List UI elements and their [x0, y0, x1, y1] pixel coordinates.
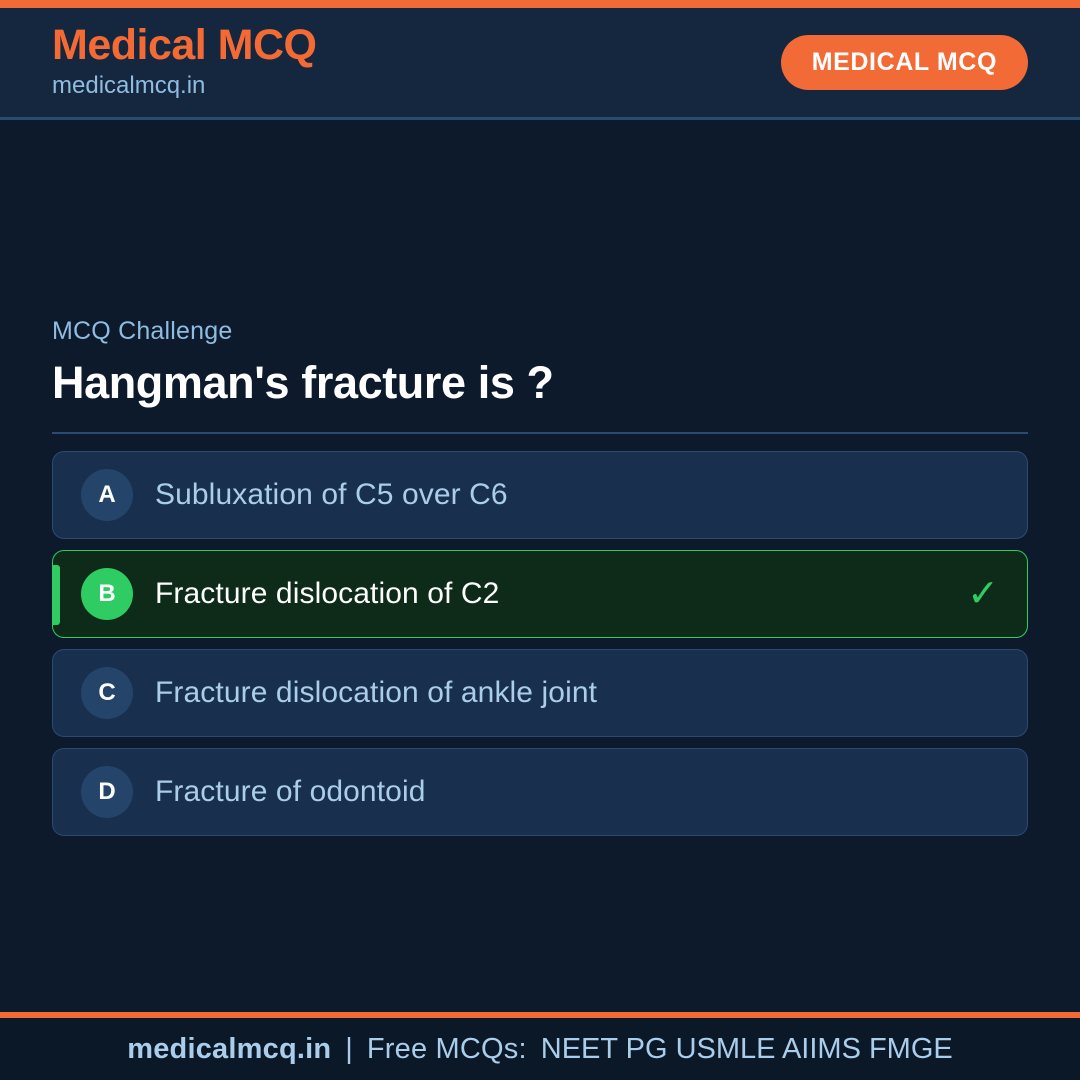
question-divider	[52, 432, 1028, 434]
brand-block: Medical MCQ medicalmcq.in	[52, 23, 317, 101]
footer-label: Free MCQs:	[367, 1033, 527, 1066]
option-a[interactable]: A Subluxation of C5 over C6 ✓	[52, 451, 1028, 539]
option-letter-badge: A	[81, 469, 133, 521]
page-title: Hangman's fracture is ?	[52, 356, 1028, 411]
footer-exams: NEET PG USMLE AIIMS FMGE	[527, 1033, 953, 1066]
option-label: Fracture dislocation of C2	[155, 576, 499, 612]
footer-separator: |	[331, 1033, 367, 1066]
option-letter-badge: C	[81, 667, 133, 719]
page-header: Medical MCQ medicalmcq.in MEDICAL MCQ	[0, 8, 1080, 120]
footer-site[interactable]: medicalmcq.in	[127, 1033, 331, 1066]
option-label: Fracture of odontoid	[155, 774, 426, 810]
brand-subtitle: medicalmcq.in	[52, 70, 317, 101]
options-list: A Subluxation of C5 over C6 ✓ B Fracture…	[52, 451, 1028, 836]
check-icon: ✓	[967, 575, 999, 613]
page-footer: medicalmcq.in | Free MCQs: NEET PG USMLE…	[0, 1018, 1080, 1080]
question-eyebrow: MCQ Challenge	[52, 318, 1028, 346]
question-area: MCQ Challenge Hangman's fracture is ?	[52, 318, 1028, 434]
option-letter-badge: B	[81, 568, 133, 620]
option-b[interactable]: B Fracture dislocation of C2 ✓	[52, 550, 1028, 638]
header-badge[interactable]: MEDICAL MCQ	[781, 35, 1028, 90]
option-d[interactable]: D Fracture of odontoid ✓	[52, 748, 1028, 836]
option-letter-badge: D	[81, 766, 133, 818]
option-label: Subluxation of C5 over C6	[155, 477, 508, 513]
brand-title: Medical MCQ	[52, 23, 317, 68]
option-label: Fracture dislocation of ankle joint	[155, 675, 597, 711]
top-accent-bar	[0, 0, 1080, 8]
option-c[interactable]: C Fracture dislocation of ankle joint ✓	[52, 649, 1028, 737]
